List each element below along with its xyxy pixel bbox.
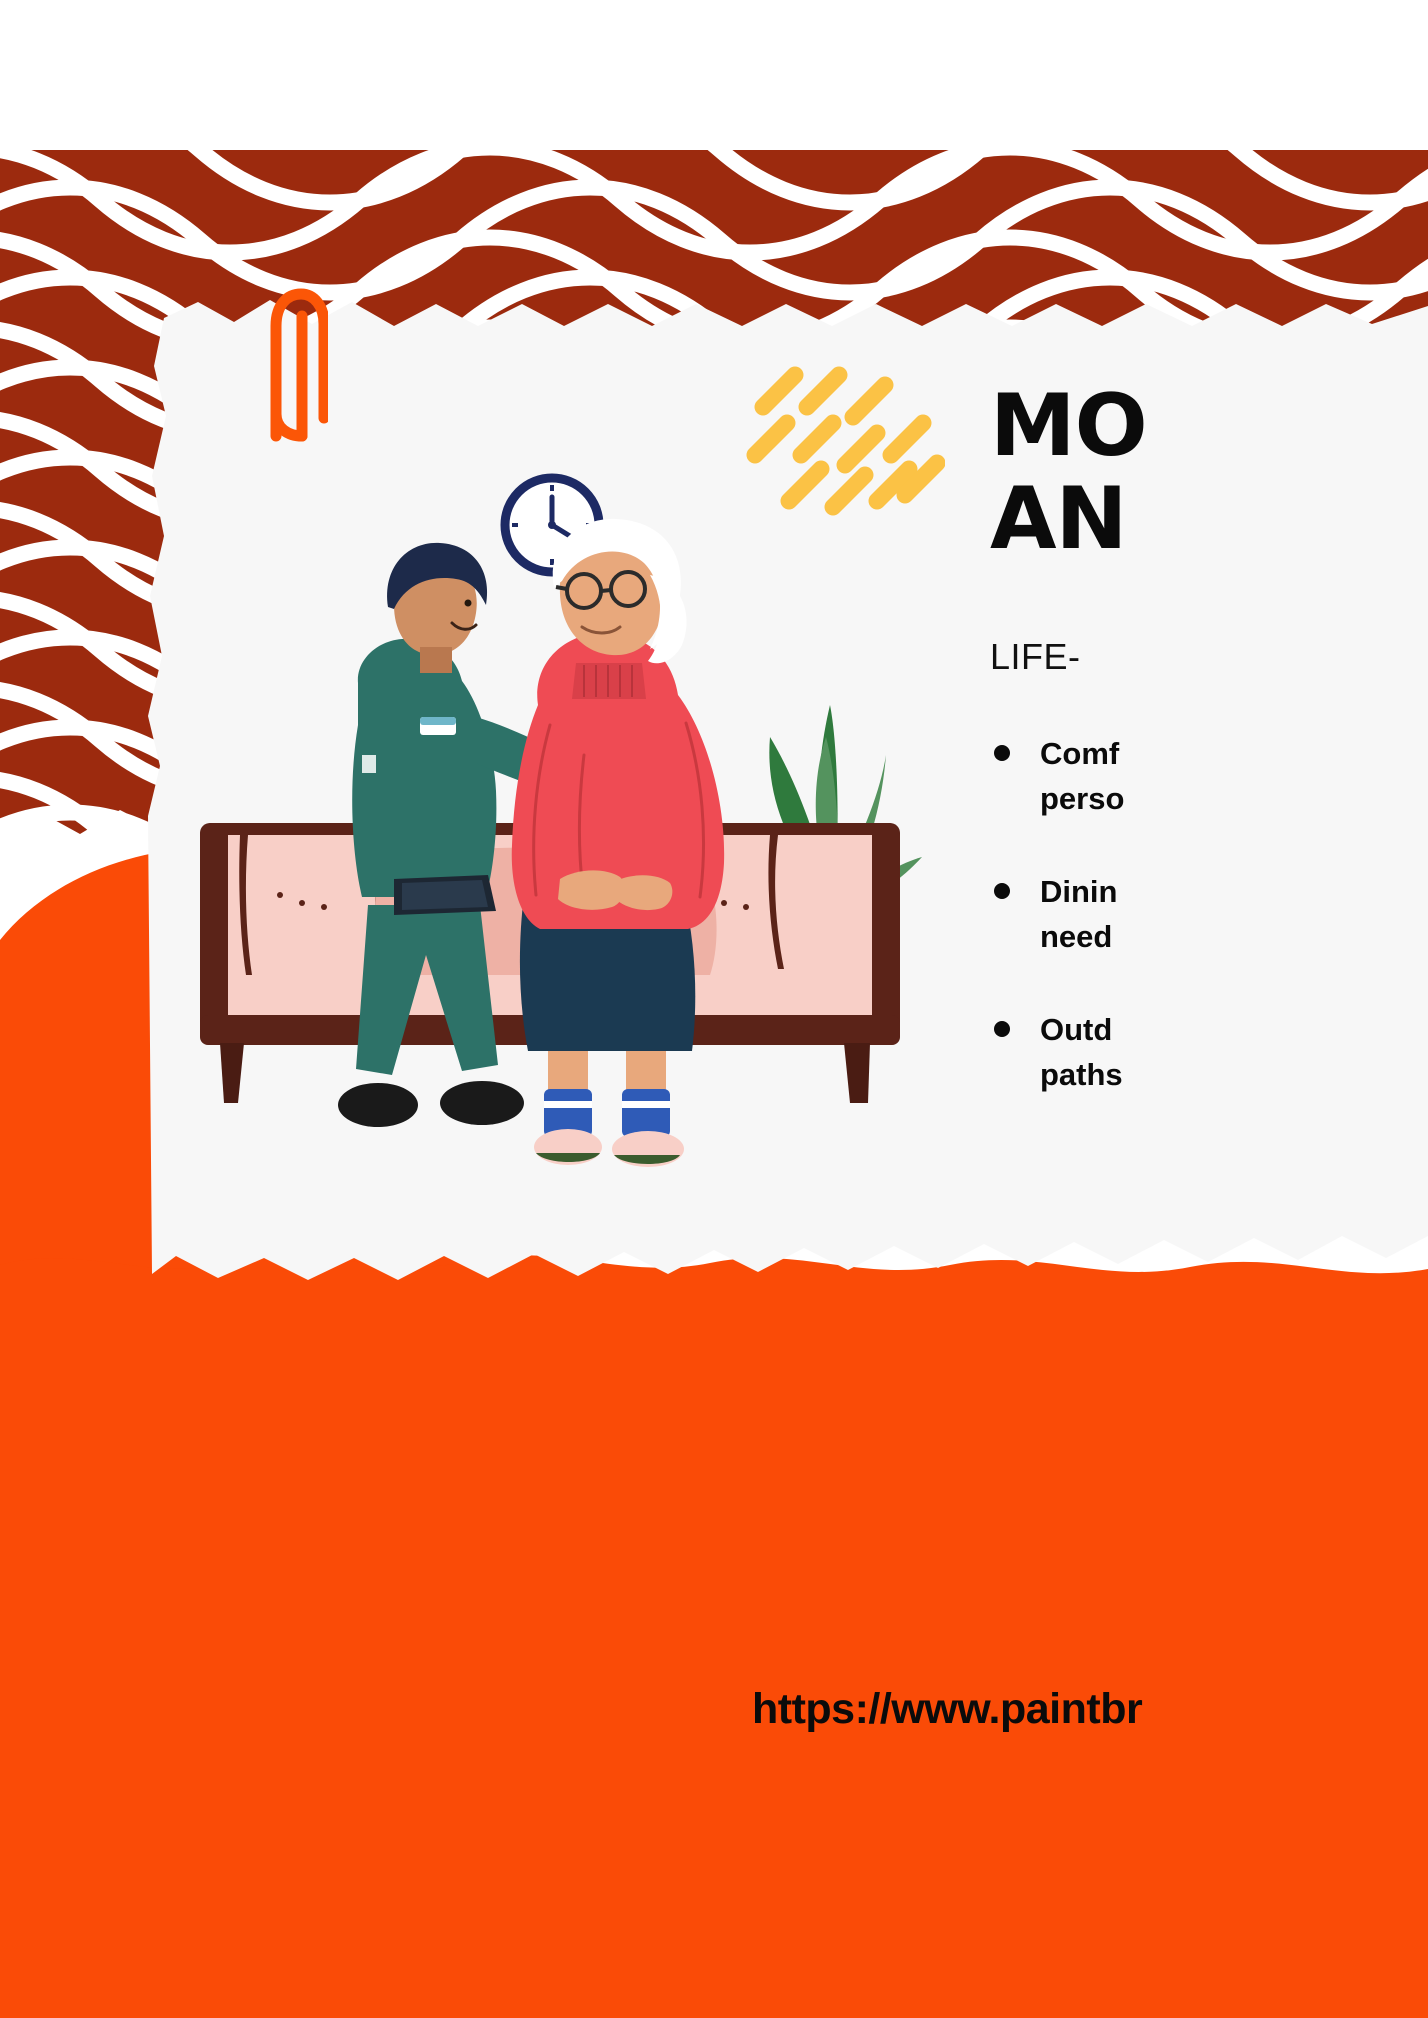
title-line-2: AN <box>990 478 1428 561</box>
feature-bullet-list: Comf perso Dinin need Outd paths <box>990 732 1428 1098</box>
bullet-dot-icon <box>994 1021 1010 1037</box>
bullet-1-line-1: Comf <box>1040 732 1428 777</box>
poster-canvas: MO AN LIFE- Comf perso Dinin need Outd p… <box>0 0 1428 2018</box>
list-item: Outd paths <box>990 1008 1428 1098</box>
bullet-dot-icon <box>994 745 1010 761</box>
list-item: Comf perso <box>990 732 1428 822</box>
page-title: MO AN <box>990 385 1428 560</box>
bullet-3-line-1: Outd <box>1040 1008 1428 1053</box>
bullet-2-line-2: need <box>1040 915 1428 960</box>
bullet-2-line-1: Dinin <box>1040 870 1428 915</box>
subtitle: LIFE- <box>990 636 1428 678</box>
website-url[interactable]: https://www.paintbr <box>752 1685 1142 1734</box>
text-content-column: MO AN LIFE- Comf perso Dinin need Outd p… <box>990 385 1428 1146</box>
bullet-dot-icon <box>994 883 1010 899</box>
paperclip-icon <box>258 286 328 451</box>
bullet-3-line-2: paths <box>1040 1053 1428 1098</box>
care-home-illustration <box>180 455 940 1195</box>
bullet-1-line-2: perso <box>1040 777 1428 822</box>
list-item: Dinin need <box>990 870 1428 960</box>
title-line-1: MO <box>990 376 1147 476</box>
elderly-resident-figure-icon <box>512 519 724 1167</box>
